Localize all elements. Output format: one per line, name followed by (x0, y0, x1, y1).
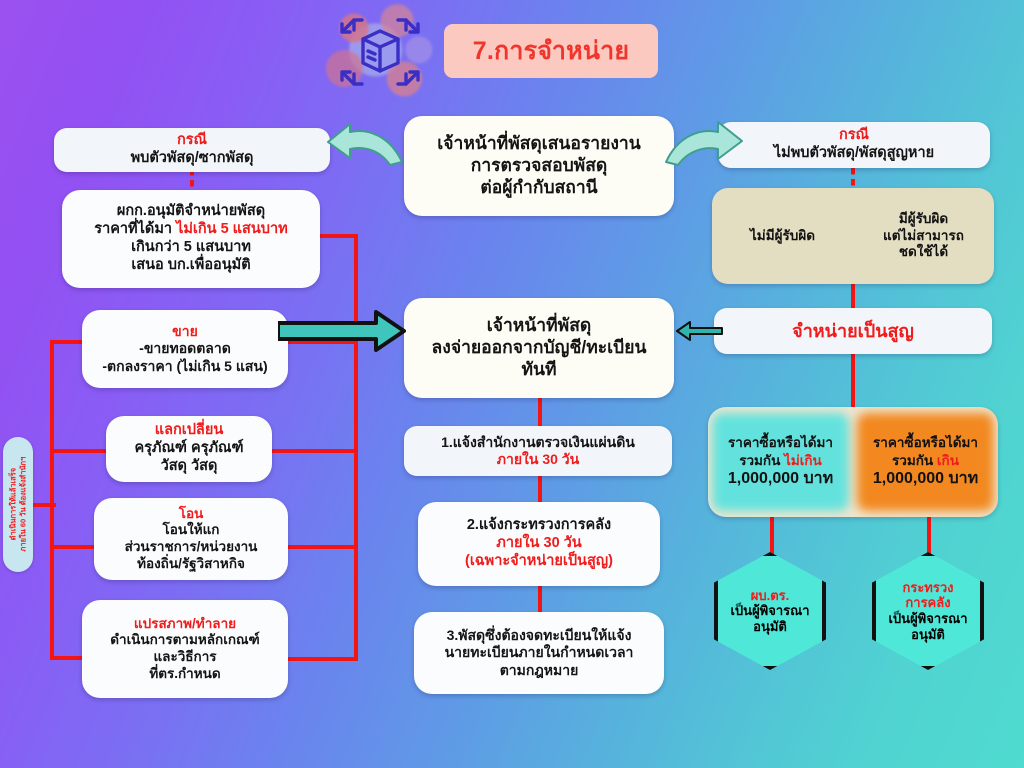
flowchart-canvas: 7.การจำหน่าย เจ้าหน้าที่พัสด (0, 0, 1024, 768)
liability-exists-line-2: แต่ไม่สามารถ (883, 228, 964, 245)
stub-destroy-to-rail (284, 657, 358, 661)
price2-line-2: รวมกัน เกิน (873, 452, 978, 470)
price1-amount: 1,000,000 บาท (728, 469, 833, 490)
price1-line-2: รวมกัน ไม่เกิน (728, 452, 833, 470)
arrow-right-curved (662, 118, 746, 166)
method-destroy[interactable]: แปรสภาพ/ทำลาย ดำเนินการตามหลักเกณฑ์ และว… (82, 600, 288, 698)
notify1-red: ภายใน 30 วัน (497, 451, 579, 468)
connector-liability-writeoff (851, 284, 855, 308)
approver-ministry[interactable]: กระทรวง การคลัง เป็นผู้พิจารณา อนุมัติ (872, 552, 984, 670)
liability-exists-line-3: ชดใช้ได้ (883, 244, 964, 261)
method-transfer-line-2: ส่วนราชการ/หน่วยงาน (125, 539, 258, 556)
page-title-badge: 7.การจำหน่าย (444, 24, 658, 78)
connector-notify1-notify2 (538, 476, 542, 502)
notify2-black: 2.แจ้งกระทรวงการคลัง (467, 517, 611, 535)
approver1-title: ผบ.ตร. (730, 588, 809, 604)
node-case-found[interactable]: กรณี พบตัวพัสดุ/ซากพัสดุ (54, 128, 330, 172)
arrow-left-curved (324, 122, 408, 168)
connector-casenotfound-liability (851, 168, 855, 190)
method-transfer-title: โอน (179, 506, 204, 523)
stub-transfer-to-rail (284, 545, 358, 549)
approve-line-2: ราคาที่ได้มา ไม่เกิน 5 แสนบาท (94, 221, 287, 239)
rail-methods-right (354, 234, 358, 660)
arrow-thin-left (676, 320, 724, 342)
report-line-2: การตรวจสอบพัสดุ (471, 155, 608, 177)
package-box-distribute-icon (330, 6, 430, 102)
notify3-black: 3.พัสดุซึ่งต้องจดทะเบียนให้แจ้ง (447, 627, 632, 644)
page-title: 7.การจำหน่าย (473, 31, 629, 71)
stub-left-exchange (50, 449, 114, 453)
approver2-line-2: อนุมัติ (888, 627, 967, 643)
method-sell-line-1: -ขายทอดตลาด (139, 340, 231, 357)
notify-ministry-finance[interactable]: 2.แจ้งกระทรวงการคลัง ภายใน 30 วัน (เฉพาะ… (418, 502, 660, 586)
liability-exists-line-1: มีผู้รับผิด (883, 211, 964, 228)
case-found-title: กรณี (177, 132, 207, 150)
stub-approve-to-rail (318, 234, 358, 238)
price1-line-1: ราคาซื้อหรือได้มา (728, 434, 833, 452)
approver1-line-1: เป็นผู้พิจารณา (730, 603, 809, 619)
connector-price2-approver2 (927, 516, 931, 554)
method-destroy-line-1: ดำเนินการตามหลักเกณฑ์ (110, 632, 260, 649)
method-transfer[interactable]: โอน โอนให้แก ส่วนราชการ/หน่วยงาน ท้องถิ่… (94, 498, 288, 580)
approve-line-2-black: ราคาที่ได้มา (94, 221, 176, 237)
notify-audit-office[interactable]: 1.แจ้งสำนักงานตรวจเงินแผ่นดิน ภายใน 30 ว… (404, 426, 672, 476)
side-note-line-2: ภายใน 60 วัน ต้องแจ้งสำนักฯ (18, 457, 28, 552)
approve-line-2-red: ไม่เกิน 5 แสนบาท (176, 221, 288, 237)
node-report[interactable]: เจ้าหน้าที่พัสดุเสนอรายงาน การตรวจสอบพัส… (404, 116, 674, 216)
approver2-title-2: การคลัง (888, 595, 967, 611)
ledger-line-2: ลงจ่ายออกจากบัญชี/ทะเบียน (432, 337, 647, 359)
node-liability[interactable]: ไม่มีผู้รับผิด มีผู้รับผิด แต่ไม่สามารถ … (712, 188, 994, 284)
method-transfer-line-3: ท้องถิ่น/รัฐวิสาหกิจ (137, 556, 245, 573)
method-destroy-title: แปรสภาพ/ทำลาย (134, 616, 236, 633)
method-destroy-line-3: ที่ตร.กำหนด (149, 666, 220, 683)
price-not-exceed: ราคาซื้อหรือได้มา รวมกัน ไม่เกิน 1,000,0… (708, 407, 853, 517)
liability-none-label: ไม่มีผู้รับผิด (750, 228, 815, 245)
method-destroy-line-2: และวิธีการ (153, 649, 216, 666)
price2-line-2b: เกิน (937, 453, 959, 468)
approve-line-4: เสนอ บก.เพื่ออนุมัติ (131, 257, 250, 275)
method-exchange[interactable]: แลกเปลี่ยน ครุภัณฑ์ ครุภัณฑ์ วัสดุ วัสดุ (106, 416, 272, 482)
liability-exists: มีผู้รับผิด แต่ไม่สามารถ ชดใช้ได้ (853, 188, 994, 284)
method-exchange-line-2: วัสดุ วัสดุ (161, 458, 218, 476)
approve-line-1: ผกก.อนุมัติจำหน่ายพัสดุ (117, 203, 265, 221)
method-sell-line-2: -ตกลงราคา (ไม่เกิน 5 แสน) (102, 358, 267, 375)
notify2-red-2: (เฉพาะจำหน่ายเป็นสูญ) (465, 553, 613, 571)
connector-casefound-approve (190, 169, 194, 191)
node-write-off[interactable]: จำหน่ายเป็นสูญ (714, 308, 992, 354)
method-exchange-line-1: ครุภัณฑ์ ครุภัณฑ์ (134, 440, 243, 458)
side-note-line-1: ดำเนินการให้แล้วเสร็จ (8, 457, 18, 552)
node-case-not-found[interactable]: กรณี ไม่พบตัวพัสดุ/พัสดุสูญหาย (718, 122, 990, 168)
report-line-3: ต่อผู้กำกับสถานี (480, 177, 597, 199)
stub-exchange-to-rail (268, 449, 358, 453)
approver1-line-2: อนุมัติ (730, 619, 809, 635)
ledger-line-1: เจ้าหน้าที่พัสดุ (487, 315, 592, 337)
approver2-title-1: กระทรวง (888, 580, 967, 596)
price2-line-2a: รวมกัน (892, 453, 937, 468)
node-approve[interactable]: ผกก.อนุมัติจำหน่ายพัสดุ ราคาที่ได้มา ไม่… (62, 190, 320, 288)
price2-line-1: ราคาซื้อหรือได้มา (873, 434, 978, 452)
liability-none: ไม่มีผู้รับผิด (712, 188, 853, 284)
write-off-label: จำหน่ายเป็นสูญ (792, 320, 914, 342)
connector-notify2-notify3 (538, 586, 542, 612)
notify3-line-2: นายทะเบียนภายในกำหนดเวลา (445, 644, 634, 661)
node-ledger[interactable]: เจ้าหน้าที่พัสดุ ลงจ่ายออกจากบัญชี/ทะเบี… (404, 298, 674, 398)
price-exceed: ราคาซื้อหรือได้มา รวมกัน เกิน 1,000,000 … (853, 407, 998, 517)
approver-commissioner[interactable]: ผบ.ตร. เป็นผู้พิจารณา อนุมัติ (714, 552, 826, 670)
arrow-thick-right (278, 310, 406, 352)
stub-left-sidenote (32, 503, 56, 507)
price1-line-2b: ไม่เกิน (784, 453, 822, 468)
connector-price1-approver1 (770, 516, 774, 554)
case-notfound-title: กรณี (839, 127, 869, 145)
report-line-1: เจ้าหน้าที่พัสดุเสนอรายงาน (437, 133, 640, 155)
price2-amount: 1,000,000 บาท (873, 469, 978, 490)
ledger-line-3: ทันที (521, 359, 556, 381)
connector-writeoff-price (851, 354, 855, 408)
method-exchange-title: แลกเปลี่ยน (155, 422, 223, 440)
method-sell-title: ขาย (172, 323, 198, 340)
notify1-black: 1.แจ้งสำนักงานตรวจเงินแผ่นดิน (441, 434, 635, 451)
notify2-red-1: ภายใน 30 วัน (496, 535, 581, 553)
notify-registrar[interactable]: 3.พัสดุซึ่งต้องจดทะเบียนให้แจ้ง นายทะเบี… (414, 612, 664, 694)
approver2-line-1: เป็นผู้พิจารณา (888, 611, 967, 627)
connector-ledger-notify1 (538, 398, 542, 426)
method-transfer-line-1: โอนให้แก (163, 522, 220, 539)
approve-line-3: เกินกว่า 5 แสนบาท (131, 239, 251, 257)
price1-line-2a: รวมกัน (739, 453, 784, 468)
case-notfound-line: ไม่พบตัวพัสดุ/พัสดุสูญหาย (774, 145, 934, 163)
notify3-line-3: ตามกฎหมาย (500, 662, 579, 679)
rail-methods-left (50, 340, 54, 658)
side-note-deadline[interactable]: ดำเนินการให้แล้วเสร็จ ภายใน 60 วัน ต้องแ… (3, 437, 33, 572)
method-sell[interactable]: ขาย -ขายทอดตลาด -ตกลงราคา (ไม่เกิน 5 แสน… (82, 310, 288, 388)
case-found-line: พบตัวพัสดุ/ซากพัสดุ (131, 150, 254, 168)
node-price-thresholds[interactable]: ราคาซื้อหรือได้มา รวมกัน ไม่เกิน 1,000,0… (708, 407, 998, 517)
